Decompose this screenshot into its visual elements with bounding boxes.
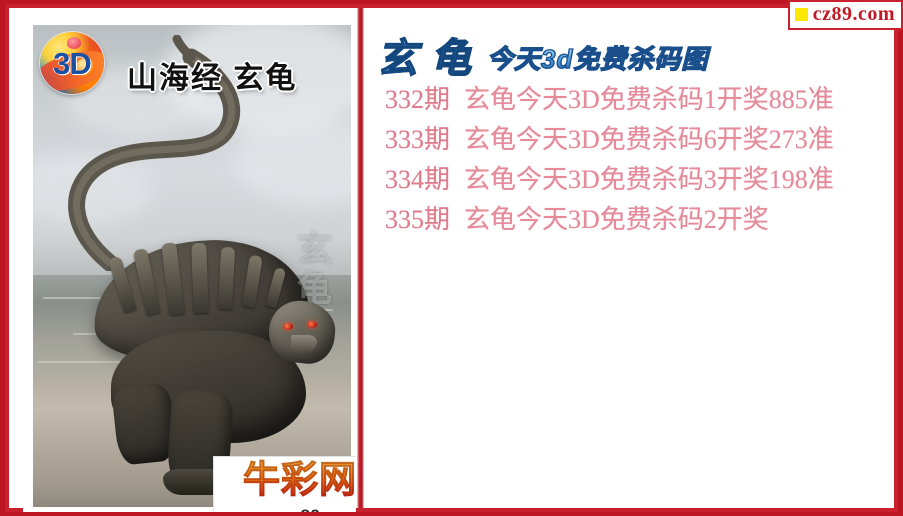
list-item: 333期玄龟今天3D免费杀码6开奖273准: [385, 120, 878, 160]
poster-inner-frame: 玄龟 3D 山海经 玄龟 牛彩网 www.cz89.com: [5, 4, 898, 512]
issue-number: 333期: [385, 125, 450, 154]
poster-root: 玄龟 3D 山海经 玄龟 牛彩网 www.cz89.com: [0, 0, 903, 516]
watermark-square-icon: [795, 8, 808, 21]
logo-3d-label: 3D: [40, 46, 104, 82]
issue-text: 玄龟今天3D免费杀码3开奖198准: [464, 165, 834, 194]
panel-heading-main: 玄龟: [377, 37, 485, 81]
watermark-url: cz89.com: [813, 3, 895, 26]
left-photo-card: 玄龟 3D 山海经 玄龟 牛彩网 www.cz89.com: [23, 20, 356, 512]
issue-text: 玄龟今天3D免费杀码1开奖885准: [464, 85, 834, 114]
site-watermark[interactable]: cz89.com: [788, 0, 903, 30]
list-item: 332期玄龟今天3D免费杀码1开奖885准: [385, 80, 878, 120]
brand-name: 牛彩网: [222, 459, 356, 502]
issue-text: 玄龟今天3D免费杀码2开奖: [464, 205, 769, 234]
turtle-figure: [51, 153, 341, 483]
photo-overlay-text: 玄龟: [294, 230, 329, 310]
turtle-hind-leg: [111, 382, 177, 466]
issue-number: 335期: [385, 205, 450, 234]
turtle-eye: [283, 323, 293, 330]
kill-code-list: 332期玄龟今天3D免费杀码1开奖885准 333期玄龟今天3D免费杀码6开奖2…: [385, 80, 878, 240]
panel-heading-sub: 今天3d免费杀码图: [487, 44, 708, 74]
photo-title: 山海经 玄龟: [127, 53, 297, 97]
logo-3d-icon: 3D: [40, 32, 104, 94]
issue-text: 玄龟今天3D免费杀码6开奖273准: [464, 125, 834, 154]
issue-number: 332期: [385, 85, 450, 114]
right-content-panel: 玄龟今天3d免费杀码图 332期玄龟今天3D免费杀码1开奖885准 333期玄龟…: [367, 18, 886, 498]
brand-url: www.cz89.com: [214, 506, 356, 512]
vertical-divider: [357, 8, 364, 508]
list-item: 335期玄龟今天3D免费杀码2开奖: [385, 200, 878, 240]
turtle-eye: [307, 321, 317, 328]
brand-logo-box[interactable]: 牛彩网 www.cz89.com: [213, 456, 356, 512]
issue-number: 334期: [385, 165, 450, 194]
panel-heading: 玄龟今天3d免费杀码图: [377, 26, 708, 84]
list-item: 334期玄龟今天3D免费杀码3开奖198准: [385, 160, 878, 200]
turtle-photo: 玄龟 3D 山海经 玄龟: [33, 25, 351, 507]
